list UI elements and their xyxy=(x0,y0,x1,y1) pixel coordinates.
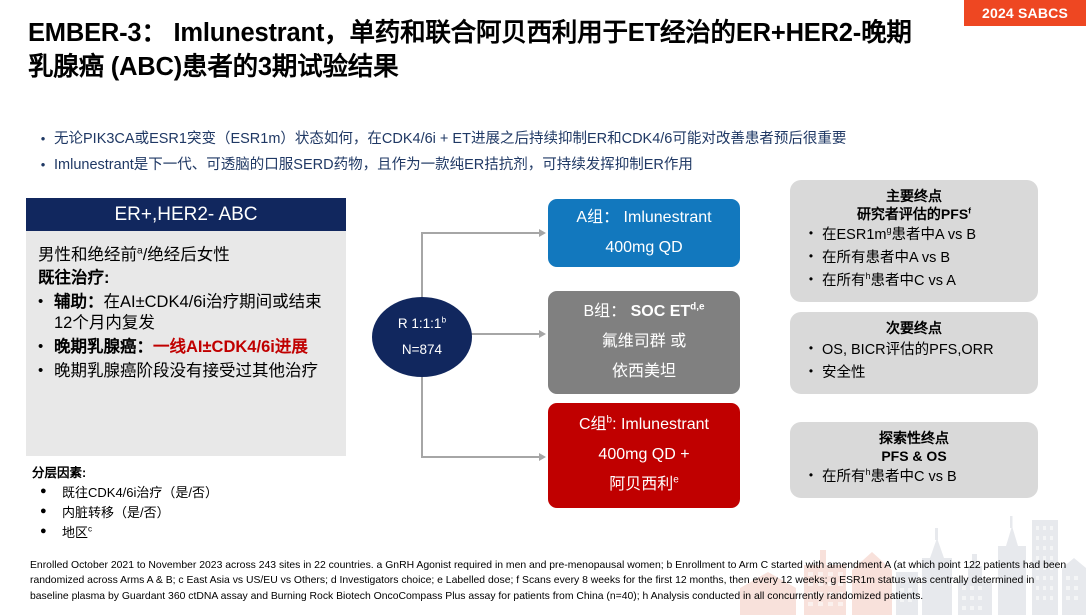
bullet-dot-icon: • xyxy=(800,270,822,288)
eligibility-item-2-highlight: 一线AI±CDK4/6i进展 xyxy=(153,338,308,356)
treatment-arm-b: B组： SOC ETd,e 氟维司群 或 依西美坦 xyxy=(548,291,740,394)
eligibility-item-2-text: 晚期乳腺癌：一线AI±CDK4/6i进展 xyxy=(54,337,336,359)
arm-a-line-2: 400mg QD xyxy=(605,239,682,258)
primary-endpoints-title: 主要终点 研究者评估的PFSf xyxy=(800,188,1028,223)
intro-bullet-2-text: Imlunestrant是下一代、可透脑的口服SERD药物，且作为一款纯ER拮抗… xyxy=(54,154,693,176)
secondary-endpoint-item-1: • OS, BICR评估的PFS,ORR xyxy=(800,339,1028,361)
arm-c-line-1: C组b: Imlunestrant xyxy=(579,416,709,435)
treatment-arm-a: A组： Imlunestrant 400mg QD xyxy=(548,199,740,267)
primary-endpoint-item-1-text: 在ESR1mg患者中A vs B xyxy=(822,224,976,246)
stratification-item-3-label: 地区 xyxy=(62,525,88,540)
primary-endpoint-item-2: • 在所有患者中A vs B xyxy=(800,247,1028,269)
eligibility-item-2-label: 晚期乳腺癌： xyxy=(54,338,153,356)
stratification-item-2: ● 内脏转移（是/否） xyxy=(32,503,362,523)
arm-a-drug: Imlunestrant xyxy=(619,209,711,226)
bullet-dot-icon: • xyxy=(38,292,54,312)
bullet-dot-icon: • xyxy=(800,339,822,357)
primary-endpoint-item-1: • 在ESR1mg患者中A vs B xyxy=(800,224,1028,246)
bullet-dot-icon: ● xyxy=(32,483,62,500)
eligibility-header: ER+,HER2- ABC xyxy=(26,198,346,231)
arm-a-label: A组： xyxy=(576,209,619,226)
population-text-pre: 男性和绝经前 xyxy=(38,246,137,264)
secondary-endpoint-item-2: • 安全性 xyxy=(800,362,1028,384)
intro-bullets: • 无论PIK3CA或ESR1突变（ESR1m）状态如何，在CDK4/6i + … xyxy=(32,128,1062,180)
eligibility-body: 男性和绝经前a/绝经后女性 既往治疗: • 辅助：在AI±CDK4/6i治疗期间… xyxy=(26,231,346,383)
page-title-line-2: 乳腺癌 (ABC)患者的3期试验结果 xyxy=(28,50,988,84)
randomization-ratio-text: R 1:1:1 xyxy=(398,316,442,331)
eligibility-population: 男性和绝经前a/绝经后女性 xyxy=(38,245,336,267)
exploratory-endpoints-title-line-2: PFS & OS xyxy=(800,448,1028,466)
prior-therapy-label: 既往治疗: xyxy=(38,268,336,290)
item-post: 患者中A vs B xyxy=(891,227,976,243)
footnote: Enrolled October 2021 to November 2023 a… xyxy=(30,558,1070,604)
bullet-dot-icon: • xyxy=(800,224,822,242)
bullet-dot-icon: • xyxy=(38,361,54,381)
footnote-marker-f: f xyxy=(968,205,971,215)
arm-b-label: B组： xyxy=(583,303,630,320)
eligibility-item-3-text: 晚期乳腺癌阶段没有接受过其他治疗 xyxy=(54,361,336,383)
footnote-marker-e: e xyxy=(673,475,679,486)
primary-endpoints-title-line-2: 研究者评估的PFSf xyxy=(800,206,1028,224)
slide-root: 2024 SABCS EMBER-3： Imlunestrant，单药和联合阿贝… xyxy=(0,0,1086,615)
eligibility-item-1-text: 辅助：在AI±CDK4/6i治疗期间或结束12个月内复发 xyxy=(54,292,336,336)
exploratory-endpoint-item-1-text: 在所有h患者中C vs B xyxy=(822,466,957,488)
eligibility-item-1: • 辅助：在AI±CDK4/6i治疗期间或结束12个月内复发 xyxy=(38,292,336,336)
arm-b-line-1: B组： SOC ETd,e xyxy=(583,303,704,322)
primary-endpoint-item-3: • 在所有h患者中C vs A xyxy=(800,270,1028,292)
randomization-n: N=874 xyxy=(402,343,442,358)
arrow-head-a-icon xyxy=(539,229,546,237)
eligibility-panel: ER+,HER2- ABC 男性和绝经前a/绝经后女性 既往治疗: • 辅助：在… xyxy=(26,198,346,456)
eligibility-item-2: • 晚期乳腺癌：一线AI±CDK4/6i进展 xyxy=(38,337,336,359)
bullet-dot-icon: • xyxy=(800,362,822,380)
primary-endpoints-card: 主要终点 研究者评估的PFSf • 在ESR1mg患者中A vs B • 在所有… xyxy=(790,180,1038,302)
exploratory-endpoints-title: 探索性终点 PFS & OS xyxy=(800,430,1028,465)
exploratory-endpoints-title-line-1: 探索性终点 xyxy=(800,430,1028,448)
bullet-dot-icon: ● xyxy=(32,523,62,540)
arm-c-label: C组 xyxy=(579,416,607,433)
primary-endpoints-title-line-1: 主要终点 xyxy=(800,188,1028,206)
arm-c-line-3: 阿贝西利e xyxy=(609,476,679,495)
primary-endpoint-item-3-text: 在所有h患者中C vs A xyxy=(822,270,956,292)
secondary-endpoints-title: 次要终点 xyxy=(800,320,1028,338)
stratification-item-3-text: 地区c xyxy=(62,523,92,543)
arm-b-drug: SOC ET xyxy=(631,303,691,320)
randomization-ratio: R 1:1:1b xyxy=(398,317,446,332)
arm-c-drug: : Imlunestrant xyxy=(612,416,709,433)
population-text-post: /绝经后女性 xyxy=(143,246,230,264)
item-pre: 在所有 xyxy=(822,273,866,289)
exploratory-endpoint-item-1: • 在所有h患者中C vs B xyxy=(800,466,1028,488)
connector-branch-a xyxy=(421,232,539,234)
stratification-item-2-text: 内脏转移（是/否） xyxy=(62,503,170,523)
intro-bullet-1-text: 无论PIK3CA或ESR1突变（ESR1m）状态如何，在CDK4/6i + ET… xyxy=(54,128,846,150)
footnote-marker-c: c xyxy=(88,524,92,533)
item-pre: 在ESR1m xyxy=(822,227,886,243)
bullet-dot-icon: • xyxy=(32,154,54,176)
stratification-item-1: ● 既往CDK4/6i治疗（是/否） xyxy=(32,483,362,503)
page-title-line-1: EMBER-3： Imlunestrant，单药和联合阿贝西利用于ET经治的ER… xyxy=(28,16,988,50)
eligibility-item-1-label: 辅助： xyxy=(54,293,104,311)
arm-a-line-1: A组： Imlunestrant xyxy=(576,209,711,228)
arrow-head-b-icon xyxy=(539,330,546,338)
bullet-dot-icon: • xyxy=(32,128,54,150)
arm-c-line-2: 400mg QD + xyxy=(598,446,689,465)
footnote-marker-b: b xyxy=(441,314,446,324)
eligibility-item-3: • 晚期乳腺癌阶段没有接受过其他治疗 xyxy=(38,361,336,383)
page-title: EMBER-3： Imlunestrant，单药和联合阿贝西利用于ET经治的ER… xyxy=(28,16,988,84)
arm-b-line-2: 氟维司群 或 xyxy=(602,333,686,352)
stratification-factors: 分层因素: ● 既往CDK4/6i治疗（是/否） ● 内脏转移（是/否） ● 地… xyxy=(32,462,362,542)
treatment-arm-c: C组b: Imlunestrant 400mg QD + 阿贝西利e xyxy=(548,403,740,508)
arm-b-line-3: 依西美坦 xyxy=(612,363,676,382)
connector-branch-c xyxy=(421,456,539,458)
primary-endpoint-item-2-text: 在所有患者中A vs B xyxy=(822,247,950,269)
intro-bullet-2: • Imlunestrant是下一代、可透脑的口服SERD药物，且作为一款纯ER… xyxy=(32,154,1062,176)
secondary-endpoints-card: 次要终点 • OS, BICR评估的PFS,ORR • 安全性 xyxy=(790,312,1038,394)
bullet-dot-icon: • xyxy=(800,247,822,265)
footnote-marker-de: d,e xyxy=(690,302,704,313)
bullet-dot-icon: • xyxy=(38,337,54,357)
stratification-item-3: ● 地区c xyxy=(32,523,362,543)
item-pre: 在所有 xyxy=(822,469,866,485)
bullet-dot-icon: • xyxy=(800,466,822,484)
item-post: 患者中C vs A xyxy=(871,273,956,289)
secondary-endpoint-item-2-text: 安全性 xyxy=(822,362,866,384)
bullet-dot-icon: ● xyxy=(32,503,62,520)
item-post: 患者中C vs B xyxy=(871,469,957,485)
exploratory-endpoints-card: 探索性终点 PFS & OS • 在所有h患者中C vs B xyxy=(790,422,1038,498)
stratification-item-1-text: 既往CDK4/6i治疗（是/否） xyxy=(62,483,218,503)
stratification-title: 分层因素: xyxy=(32,462,362,481)
primary-endpoints-metric: 研究者评估的PFS xyxy=(857,206,968,222)
connector-branch-b xyxy=(468,333,539,335)
secondary-endpoint-item-1-text: OS, BICR评估的PFS,ORR xyxy=(822,339,994,361)
arrow-head-c-icon xyxy=(539,453,546,461)
randomization-node: R 1:1:1b N=874 xyxy=(372,297,472,377)
intro-bullet-1: • 无论PIK3CA或ESR1突变（ESR1m）状态如何，在CDK4/6i + … xyxy=(32,128,1062,150)
arm-c-combo: 阿贝西利 xyxy=(609,476,673,493)
